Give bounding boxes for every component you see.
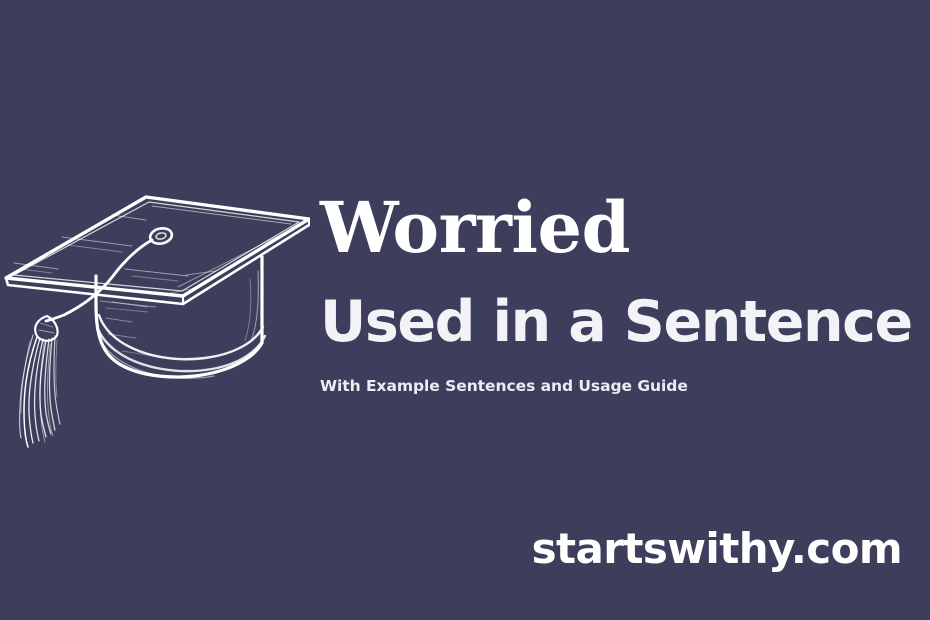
- page-title-headword: Worried: [320, 192, 920, 264]
- graduation-cap-icon: [0, 175, 310, 455]
- poster-text-block: Worried Used in a Sentence With Example …: [320, 192, 920, 396]
- poster-canvas: Worried Used in a Sentence With Example …: [0, 0, 930, 620]
- page-subtitle: With Example Sentences and Usage Guide: [320, 376, 920, 396]
- site-brand-domain: startswithy.com: [532, 524, 902, 574]
- page-title-headline: Used in a Sentence: [320, 290, 920, 354]
